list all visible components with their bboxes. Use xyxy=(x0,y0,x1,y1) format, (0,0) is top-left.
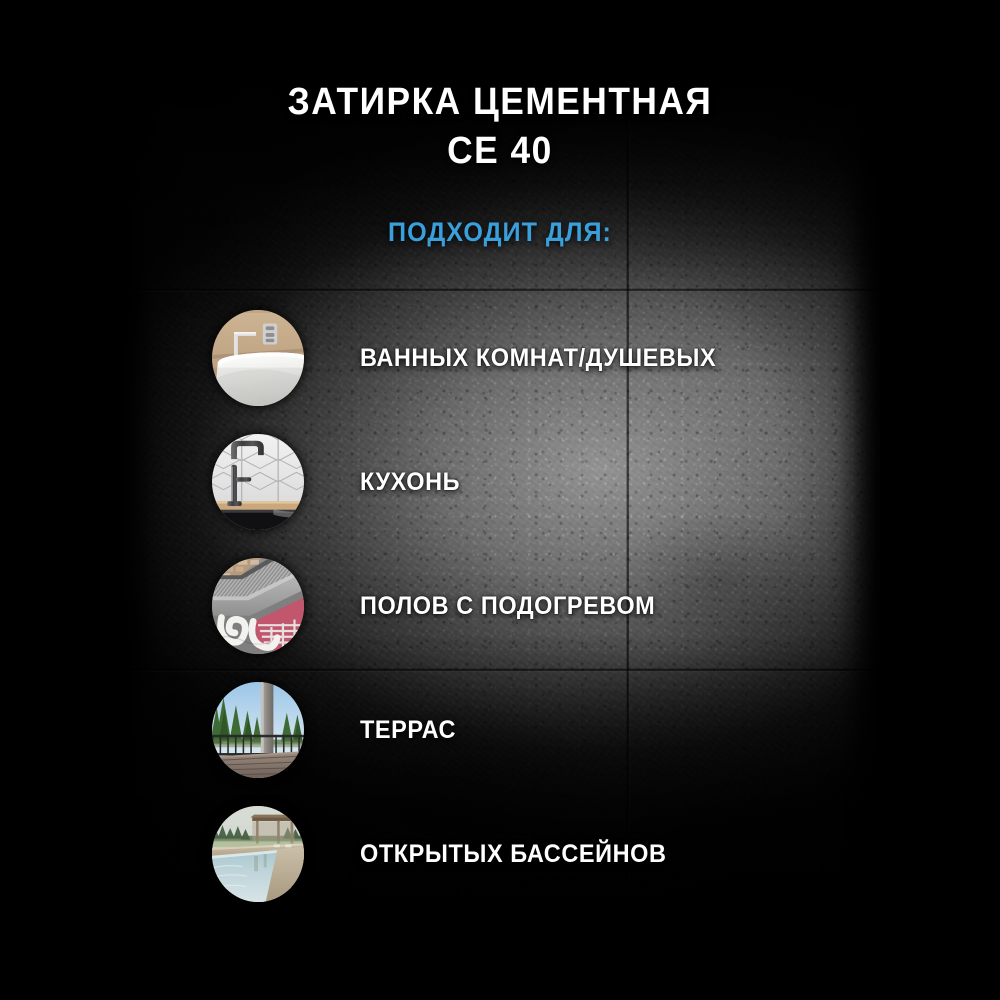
list-item-label: КУХОНЬ xyxy=(360,468,460,497)
terrace-photo-thumbnail xyxy=(212,682,304,778)
poster-content: ЗАТИРКА ЦЕМЕНТНАЯ CE 40 ПОДХОДИТ ДЛЯ: xyxy=(0,0,1000,1000)
product-infographic-poster: ЗАТИРКА ЦЕМЕНТНАЯ CE 40 ПОДХОДИТ ДЛЯ: xyxy=(0,0,1000,1000)
underfloor-heating-photo-thumbnail xyxy=(212,558,304,654)
list-item-label: ТЕРРАС xyxy=(360,716,456,745)
list-item: ТЕРРАС xyxy=(0,668,1000,792)
suitable-for-list: ВАННЫХ КОМНАТ/ДУШЕВЫХ xyxy=(0,296,1000,916)
list-item-label: ОТКРЫТЫХ БАССЕЙНОВ xyxy=(360,840,666,869)
list-item: ВАННЫХ КОМНАТ/ДУШЕВЫХ xyxy=(0,296,1000,420)
list-item-label: ПОЛОВ С ПОДОГРЕВОМ xyxy=(360,592,655,621)
kitchen-photo-thumbnail xyxy=(212,434,304,530)
subtitle-suitable-for: ПОДХОДИТ ДЛЯ: xyxy=(35,217,965,248)
list-item: ОТКРЫТЫХ БАССЕЙНОВ xyxy=(0,792,1000,916)
list-item: КУХОНЬ xyxy=(0,420,1000,544)
bathroom-photo-thumbnail xyxy=(212,310,304,406)
list-item: ПОЛОВ С ПОДОГРЕВОМ xyxy=(0,544,1000,668)
outdoor-pool-photo-thumbnail xyxy=(212,806,304,902)
list-item-label: ВАННЫХ КОМНАТ/ДУШЕВЫХ xyxy=(360,344,716,373)
page-title: ЗАТИРКА ЦЕМЕНТНАЯ CE 40 xyxy=(35,78,965,175)
